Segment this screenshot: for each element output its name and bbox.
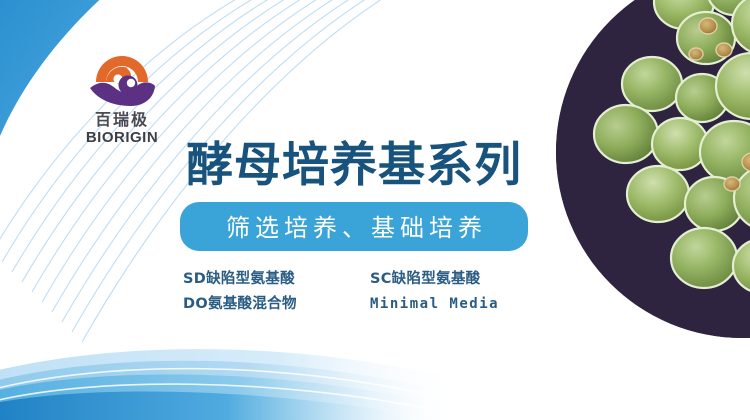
wave-band-pale [0,349,470,420]
brand-logo[interactable]: 百瑞极 BIORIGIN [70,52,174,147]
headline-block: 酵母培养基系列 筛选培养、基础培养 SD缺陷型氨基酸 SC缺陷型氨基酸 DO氨基… [168,140,540,315]
product-list: SD缺陷型氨基酸 SC缺陷型氨基酸 DO氨基酸混合物 Minimal Media [168,269,540,315]
product-banner: 百瑞极 BIORIGIN 酵母培养基系列 筛选培养、基础培养 SD缺陷型氨基酸 … [0,0,750,420]
page-title: 酵母培养基系列 [168,140,540,193]
list-item: SD缺陷型氨基酸 [183,269,358,290]
list-item: SC缺陷型氨基酸 [370,269,545,290]
list-item: DO氨基酸混合物 [183,294,358,315]
brand-name-en: BIORIGIN [70,129,174,147]
yeast-micrograph [556,0,750,338]
subtitle-badge: 筛选培养、基础培养 [180,202,528,251]
biorigin-wave-logo-icon [84,52,160,108]
wave-band-light [0,361,455,420]
brand-name-cn: 百瑞极 [70,111,174,129]
wave-band-mid [0,374,440,420]
list-item: Minimal Media [370,294,545,315]
wave-band-dark [0,392,420,420]
